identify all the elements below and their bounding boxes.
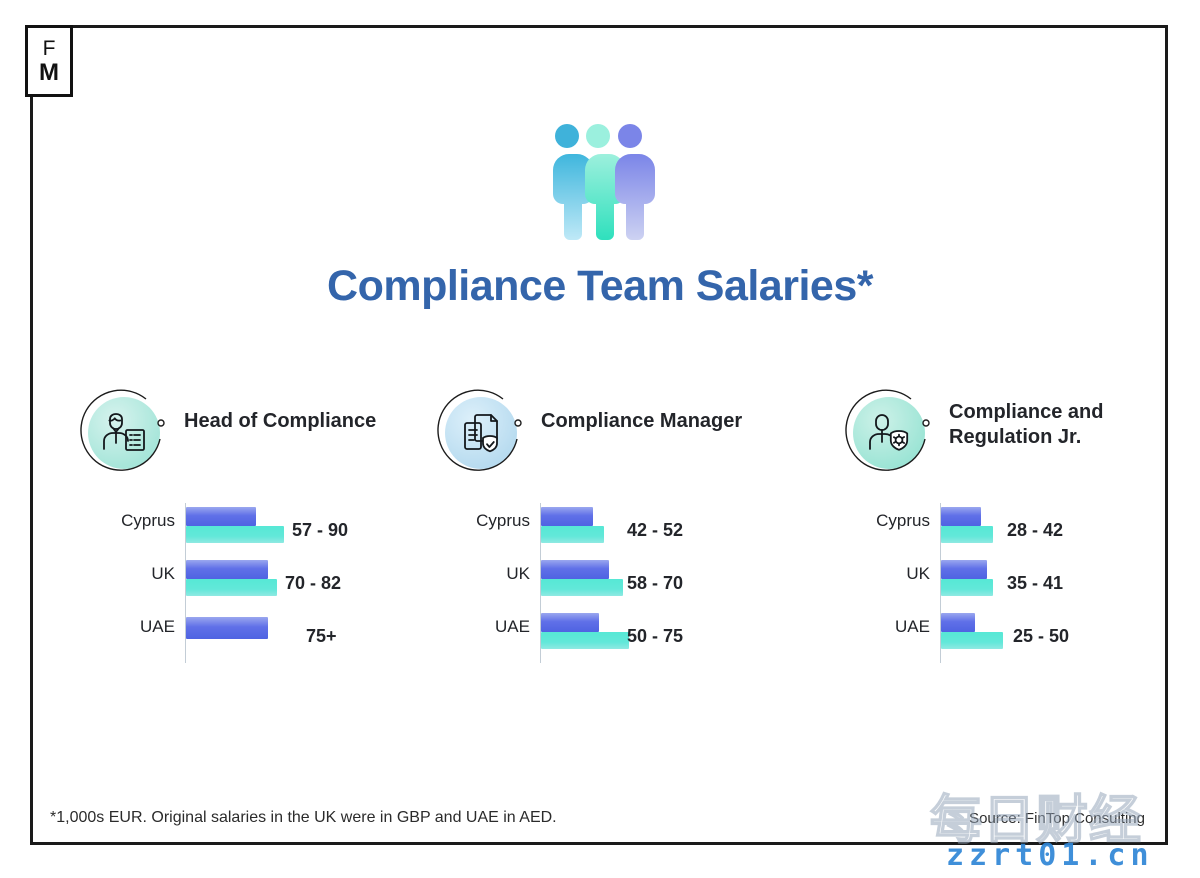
row-label: UK <box>506 564 530 584</box>
row-label: UAE <box>895 617 930 637</box>
logo-letter-f: F <box>43 37 56 60</box>
chart-row: UAE 25 - 50 <box>845 605 1185 653</box>
chart-row: UK 70 - 82 <box>80 552 420 600</box>
salary-panels: Head of Compliance Cyprus 57 - 90 UK 70 … <box>0 395 1200 685</box>
panel-header: Head of Compliance <box>80 395 420 495</box>
role-title: Head of Compliance <box>184 409 420 434</box>
row-label: Cyprus <box>876 511 930 531</box>
logo-letter-m: M <box>39 60 59 85</box>
row-label: UK <box>151 564 175 584</box>
range-label: 75+ <box>306 626 337 647</box>
chart-row: UK 58 - 70 <box>437 552 777 600</box>
chart-row: UAE 50 - 75 <box>437 605 777 653</box>
role-title: Compliance Manager <box>541 409 777 434</box>
panel-header: Compliance Manager <box>437 395 777 495</box>
row-label: Cyprus <box>121 511 175 531</box>
bar-min <box>941 560 987 579</box>
bar-max <box>941 526 993 543</box>
bar-min <box>541 560 609 579</box>
fm-logo: F M <box>25 25 73 97</box>
bar-min <box>541 507 593 526</box>
chart-row: Cyprus 42 - 52 <box>437 499 777 547</box>
salary-panel-compliance-manager: Compliance Manager Cyprus 42 - 52 UK 58 … <box>437 395 777 495</box>
range-label: 58 - 70 <box>627 573 683 594</box>
bar-max <box>941 632 1003 649</box>
bar-max <box>541 526 604 543</box>
range-label: 28 - 42 <box>1007 520 1063 541</box>
page-title: Compliance Team Salaries* <box>0 262 1200 311</box>
range-label: 57 - 90 <box>292 520 348 541</box>
bar-max <box>541 632 629 649</box>
bar-min <box>941 507 981 526</box>
panel-header: Compliance and Regulation Jr. <box>845 395 1185 495</box>
bar-chart: Cyprus 42 - 52 UK 58 - 70 UAE 50 - 75 <box>437 495 777 675</box>
range-label: 25 - 50 <box>1013 626 1069 647</box>
row-label: UK <box>906 564 930 584</box>
row-label: UAE <box>495 617 530 637</box>
person-shield-gear-icon <box>865 409 913 457</box>
source-credit: Source: FinTop Consulting <box>969 810 1145 827</box>
range-label: 50 - 75 <box>627 626 683 647</box>
chart-row: UK 35 - 41 <box>845 552 1185 600</box>
bar-min <box>186 507 256 526</box>
bar-chart: Cyprus 28 - 42 UK 35 - 41 UAE 25 - 50 <box>845 495 1185 675</box>
range-label: 35 - 41 <box>1007 573 1063 594</box>
bar-max <box>941 579 993 596</box>
range-label: 70 - 82 <box>285 573 341 594</box>
salary-panel-compliance-regulation-jr: Compliance and Regulation Jr. Cyprus 28 … <box>845 395 1185 495</box>
role-title: Compliance and Regulation Jr. <box>949 400 1185 450</box>
bar-max <box>186 579 277 596</box>
bar-min <box>941 613 975 632</box>
documents-shield-check-icon <box>457 409 505 457</box>
range-label: 42 - 52 <box>627 520 683 541</box>
bar-min <box>186 617 268 639</box>
chart-row: Cyprus 57 - 90 <box>80 499 420 547</box>
row-label: Cyprus <box>476 511 530 531</box>
bar-chart: Cyprus 57 - 90 UK 70 - 82 UAE 75+ <box>80 495 420 675</box>
bar-max <box>541 579 623 596</box>
bar-max <box>186 526 284 543</box>
salary-panel-head-of-compliance: Head of Compliance Cyprus 57 - 90 UK 70 … <box>80 395 420 495</box>
person-checklist-icon <box>100 409 148 457</box>
bar-min <box>186 560 268 579</box>
chart-row: Cyprus 28 - 42 <box>845 499 1185 547</box>
chart-row: UAE 75+ <box>80 605 420 653</box>
row-label: UAE <box>140 617 175 637</box>
bar-min <box>541 613 599 632</box>
three-people-icon <box>545 122 655 244</box>
footnote: *1,000s EUR. Original salaries in the UK… <box>50 809 557 827</box>
